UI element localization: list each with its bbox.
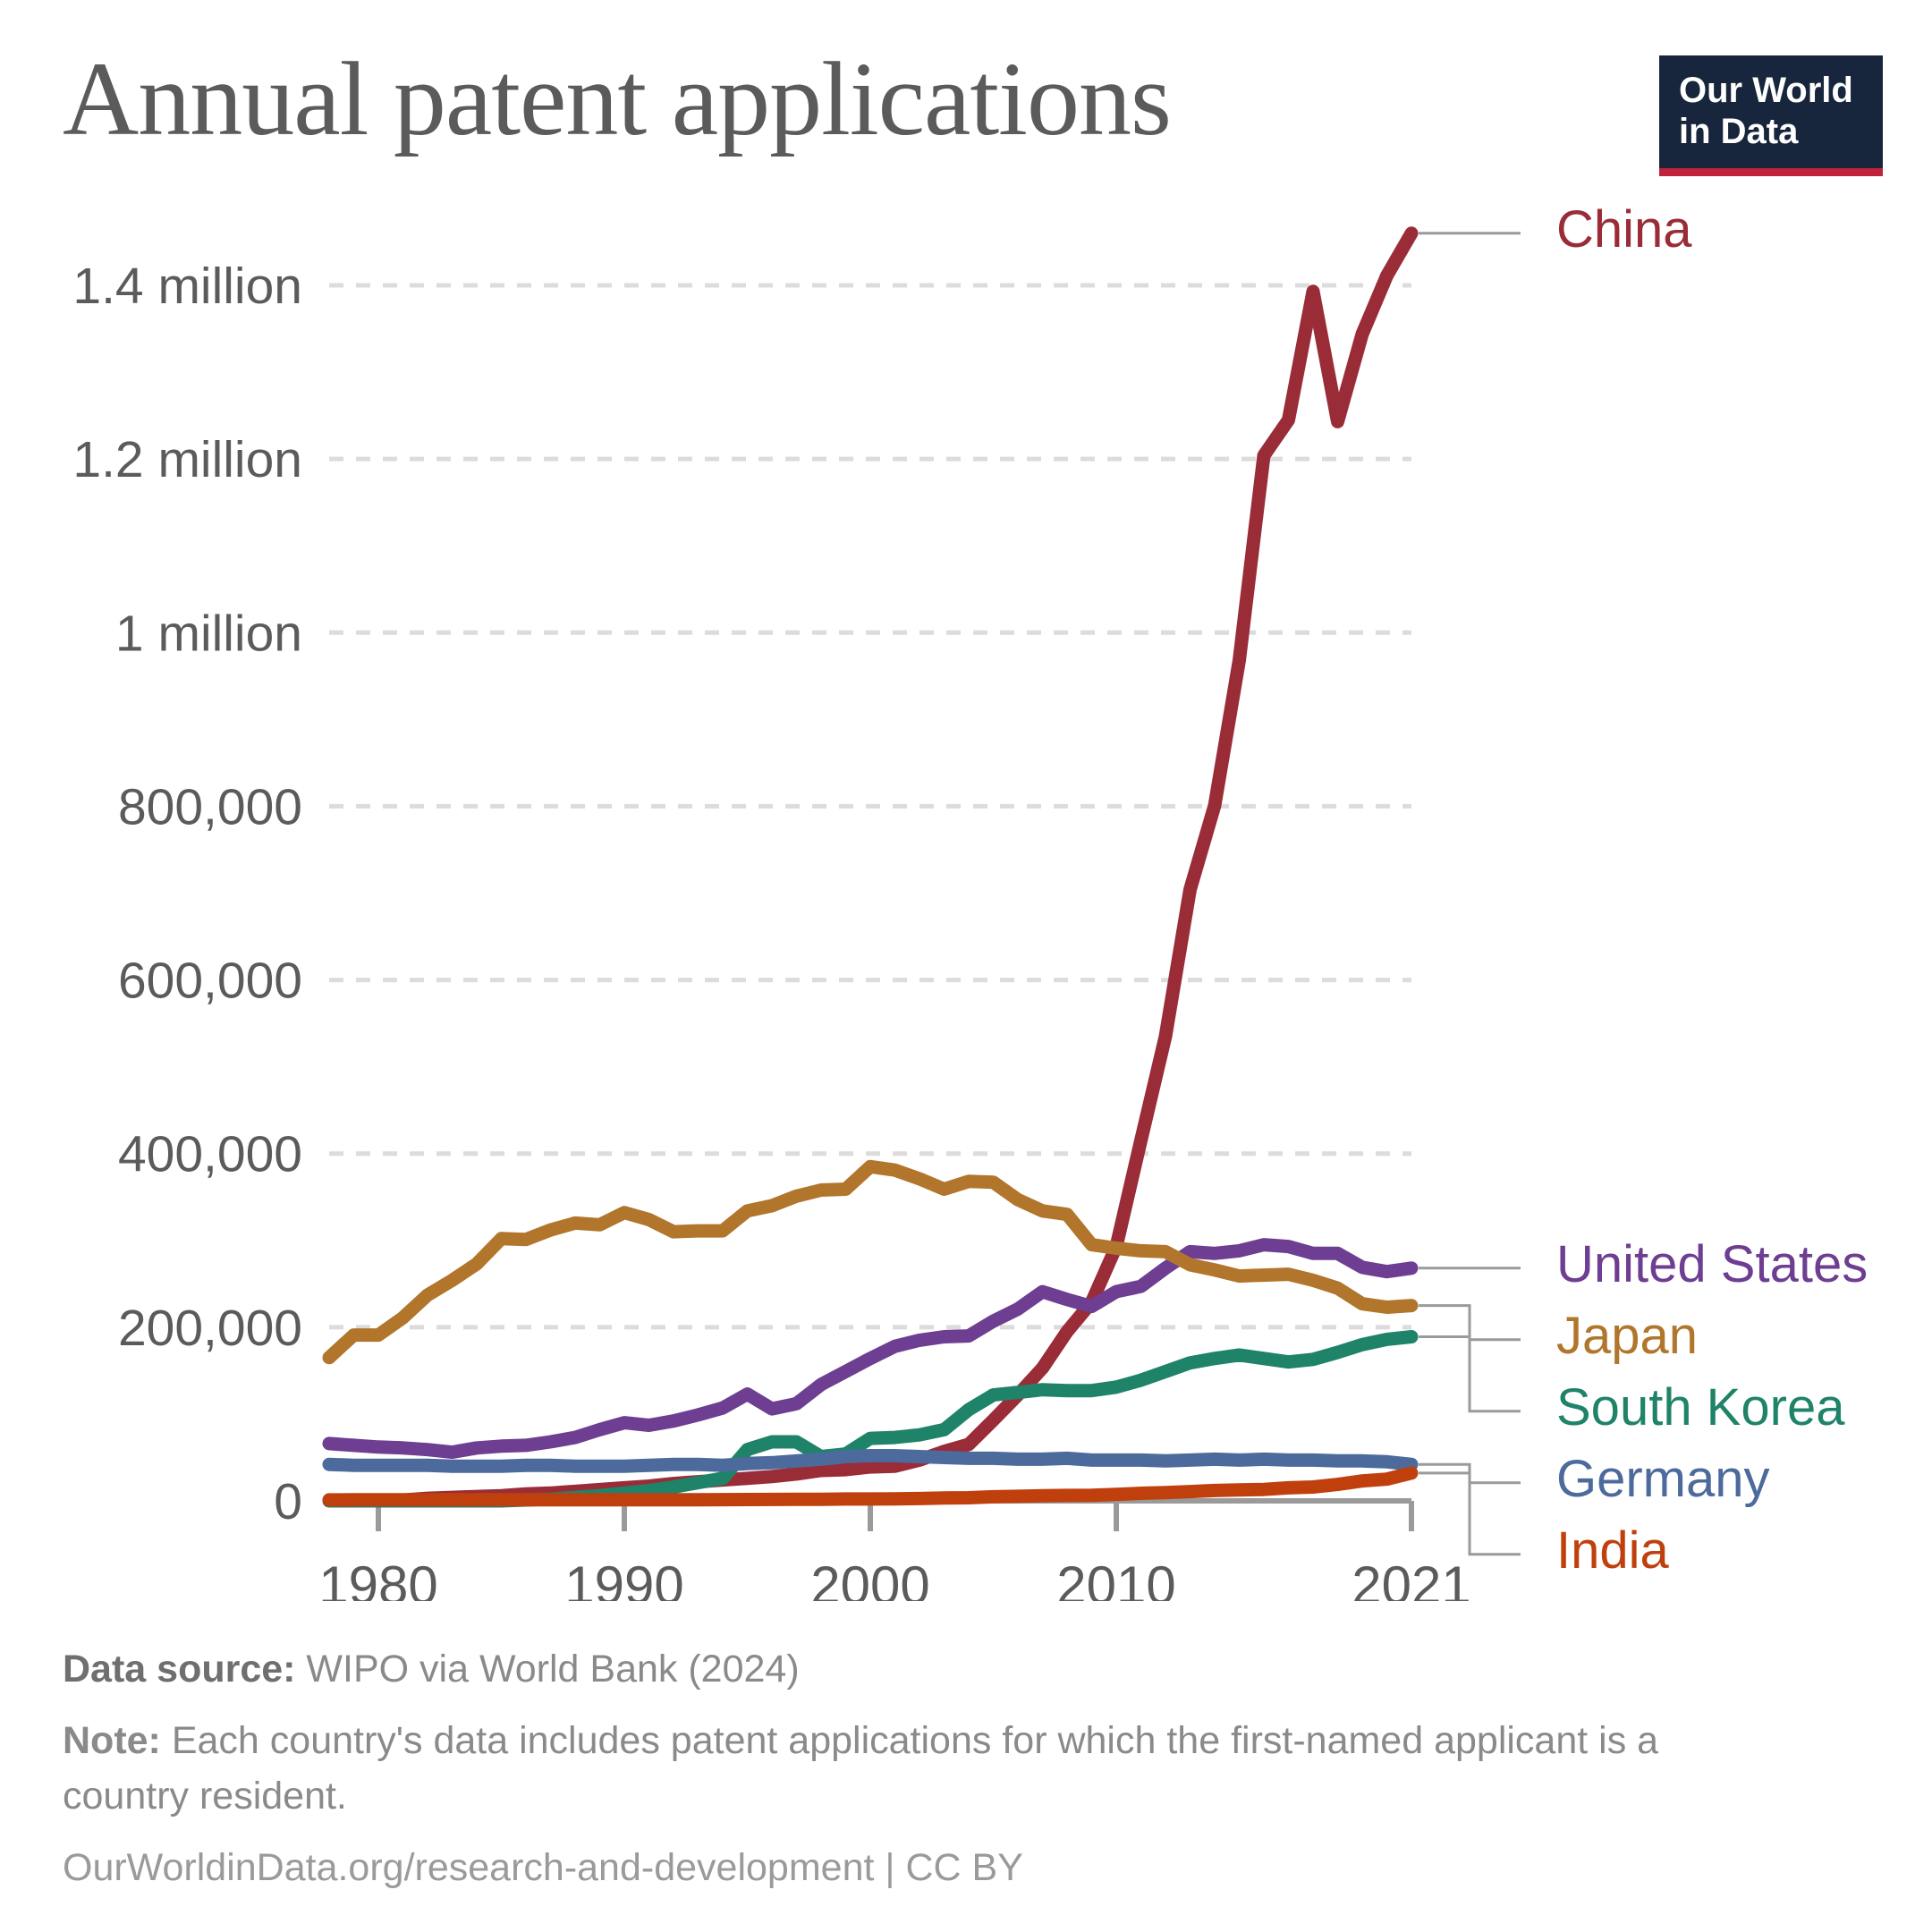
data-source-label: Data source:	[63, 1648, 295, 1690]
y-axis-tick-label: 600,000	[118, 953, 302, 1010]
owid-logo-accent-bar	[1659, 168, 1883, 176]
x-axis-tick-label: 2021	[1352, 1555, 1470, 1601]
note-line: Note: Each country's data includes paten…	[63, 1713, 1789, 1824]
y-axis-tick-label: 1 million	[115, 605, 302, 662]
x-axis-tick-label: 2010	[1056, 1555, 1175, 1601]
series-label-connector	[1419, 1337, 1521, 1411]
series-line-india[interactable]	[329, 1473, 1411, 1500]
x-axis-tick-label: 2000	[810, 1555, 929, 1601]
series-label-united-states[interactable]: United States	[1556, 1235, 1868, 1293]
owid-link[interactable]: OurWorldinData.org/research-and-developm…	[63, 1840, 1851, 1895]
series-label-connector	[1419, 1473, 1521, 1555]
y-axis-tick-label: 800,000	[118, 778, 302, 835]
chart-canvas: 0200,000400,000600,000800,0001 million1.…	[0, 206, 1932, 1601]
series-label-india[interactable]: India	[1556, 1521, 1670, 1580]
chart-footer: Data source: WIPO via World Bank (2024) …	[63, 1641, 1851, 1895]
y-axis-tick-label: 1.4 million	[72, 258, 302, 315]
series-label-south-korea[interactable]: South Korea	[1556, 1378, 1845, 1436]
chart-page: Annual patent applications Our World in …	[0, 0, 1932, 1932]
data-source-value: WIPO via World Bank (2024)	[295, 1648, 799, 1690]
series-label-china[interactable]: China	[1556, 206, 1692, 258]
series-label-japan[interactable]: Japan	[1556, 1307, 1698, 1365]
note-label: Note:	[63, 1719, 161, 1762]
page-title: Annual patent applications	[63, 47, 1171, 152]
owid-logo-line2: in Data	[1679, 111, 1865, 152]
owid-logo[interactable]: Our World in Data	[1659, 55, 1883, 176]
y-axis-tick-label: 1.2 million	[72, 431, 302, 488]
series-label-connector	[1419, 1306, 1521, 1340]
x-axis-tick-label: 1990	[564, 1555, 683, 1601]
chart-header: Annual patent applications Our World in …	[0, 0, 1932, 206]
line-chart[interactable]: 0200,000400,000600,000800,0001 million1.…	[0, 206, 1932, 1601]
owid-logo-line1: Our World	[1679, 70, 1865, 111]
note-value: Each country's data includes patent appl…	[63, 1719, 1658, 1818]
y-axis-tick-label: 400,000	[118, 1126, 302, 1183]
data-source-line: Data source: WIPO via World Bank (2024)	[63, 1641, 1851, 1697]
y-axis-tick-label: 0	[274, 1473, 302, 1530]
series-label-germany[interactable]: Germany	[1556, 1450, 1770, 1508]
x-axis-tick-label: 1980	[318, 1555, 437, 1601]
y-axis-tick-label: 200,000	[118, 1300, 302, 1357]
owid-logo-box: Our World in Data	[1659, 55, 1883, 168]
series-line-china[interactable]	[329, 233, 1411, 1501]
